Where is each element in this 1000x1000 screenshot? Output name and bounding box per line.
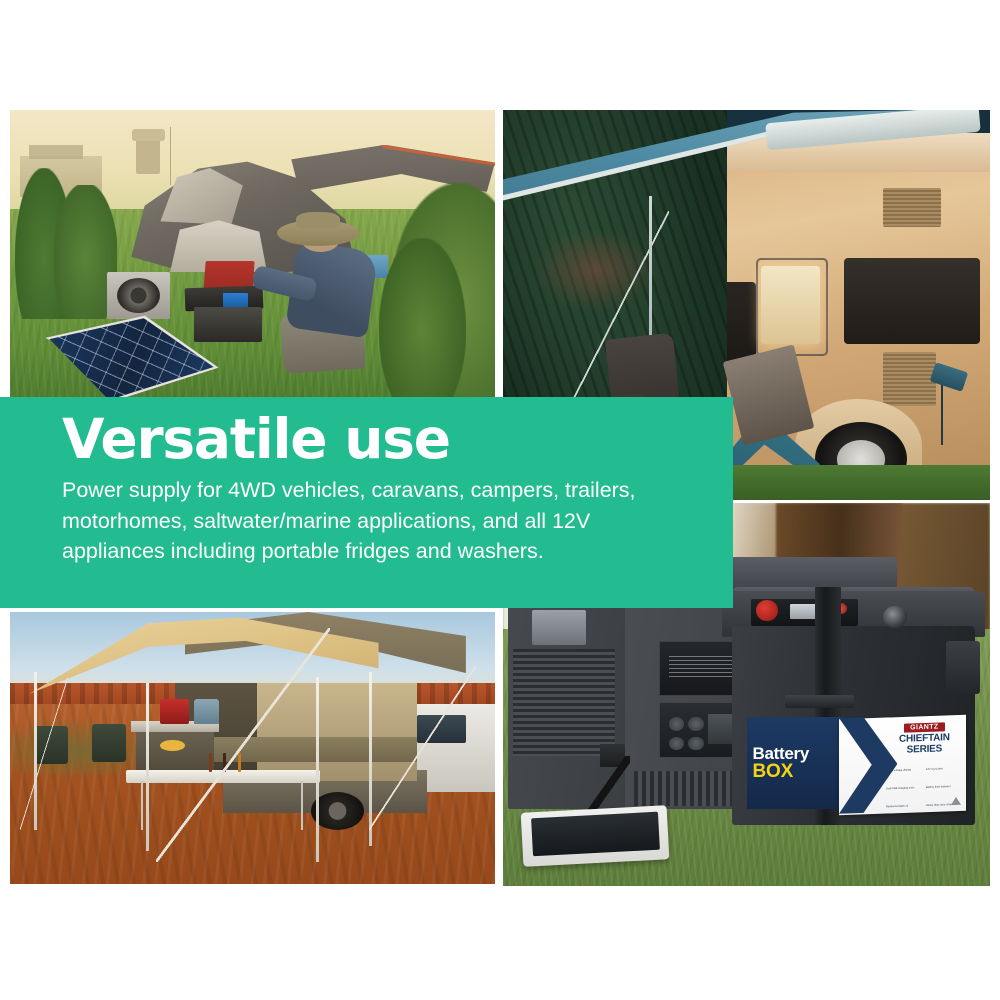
utility-pole xyxy=(170,127,171,185)
battery-box-unit xyxy=(194,307,262,342)
description-line-3: appliances including portable fridges an… xyxy=(62,539,544,563)
feature-column-right: 12V cig socket Battery level indicator H… xyxy=(926,756,963,829)
feature-item: Battery level indicator xyxy=(926,785,951,789)
marketing-collage: Battery BOX GIANTZ CHIEFTAIN SERIES Digi… xyxy=(0,0,1000,1000)
battery-label-line1: Battery xyxy=(753,745,844,762)
fridge-side-vent xyxy=(513,649,615,756)
blue-battery-item xyxy=(223,293,247,308)
camping-tent-solar-panel-photo xyxy=(10,110,495,400)
guy-rope-1 xyxy=(20,677,69,829)
versatile-use-panel: Versatile use Power supply for 4WD vehic… xyxy=(0,397,733,608)
caravan-window-large xyxy=(844,258,980,344)
feature-item: 12V cig socket xyxy=(926,768,943,772)
feature-list: Digital voltage display Dual USB chargin… xyxy=(883,756,966,831)
battery-box-strap-buckle xyxy=(785,695,853,708)
battery-box-label-text: Battery BOX xyxy=(747,717,844,809)
brand-badge: GIANTZ xyxy=(904,723,944,733)
caravan-vent-upper xyxy=(883,188,941,227)
bush-right-2 xyxy=(379,238,466,400)
battery-box-accessory-port[interactable] xyxy=(883,606,907,627)
awning-pole-2 xyxy=(146,683,149,852)
tablet-screen xyxy=(531,812,659,857)
table-leg-left xyxy=(141,781,143,830)
camper-trailer-outback-photo xyxy=(10,612,495,884)
background-canopy xyxy=(29,145,82,160)
caravan-window-lit xyxy=(761,266,819,344)
fridge-button-down[interactable] xyxy=(688,717,704,731)
person-hat-crown xyxy=(296,212,340,229)
camp-chair-b xyxy=(92,724,126,762)
description-line-2: motorhomes, saltwater/marine application… xyxy=(62,509,590,533)
chieftain-label-content: GIANTZ CHIEFTAIN SERIES Digital voltage … xyxy=(883,720,966,811)
fridge-button-set[interactable] xyxy=(688,737,704,751)
battery-box-side-handle xyxy=(946,641,980,695)
feature-item: Heavy duty carry strap xyxy=(926,803,952,807)
feature-item: Reinforced latch x2 xyxy=(886,805,908,809)
battery-box-red-knob[interactable] xyxy=(756,600,777,621)
panel-inner: Versatile use Power supply for 4WD vehic… xyxy=(0,397,733,567)
feature-item: Dual USB charging ports xyxy=(886,787,915,791)
series-line2: SERIES xyxy=(907,744,942,756)
guy-rope-2 xyxy=(156,628,331,862)
description-line-1: Power supply for 4WD vehicles, caravans,… xyxy=(62,478,636,502)
guy-rope-3 xyxy=(369,666,476,829)
panel-description: Power supply for 4WD vehicles, caravans,… xyxy=(62,475,682,567)
caravan-vent-lower xyxy=(883,352,937,407)
page-title: Versatile use xyxy=(62,411,733,467)
feature-item: Digital voltage display xyxy=(886,769,911,773)
garden-lamp-post xyxy=(941,383,943,445)
water-tower xyxy=(136,139,160,174)
battery-label-line2: BOX xyxy=(753,762,844,781)
feature-item: Fits 135Ah battery xyxy=(886,823,907,827)
fridge-handle xyxy=(532,610,586,644)
fridge-bottom-vent xyxy=(634,771,741,805)
feature-column-left: Digital voltage display Dual USB chargin… xyxy=(886,757,923,830)
recycle-triangle-icon xyxy=(951,797,961,805)
fan-blades xyxy=(117,278,161,313)
